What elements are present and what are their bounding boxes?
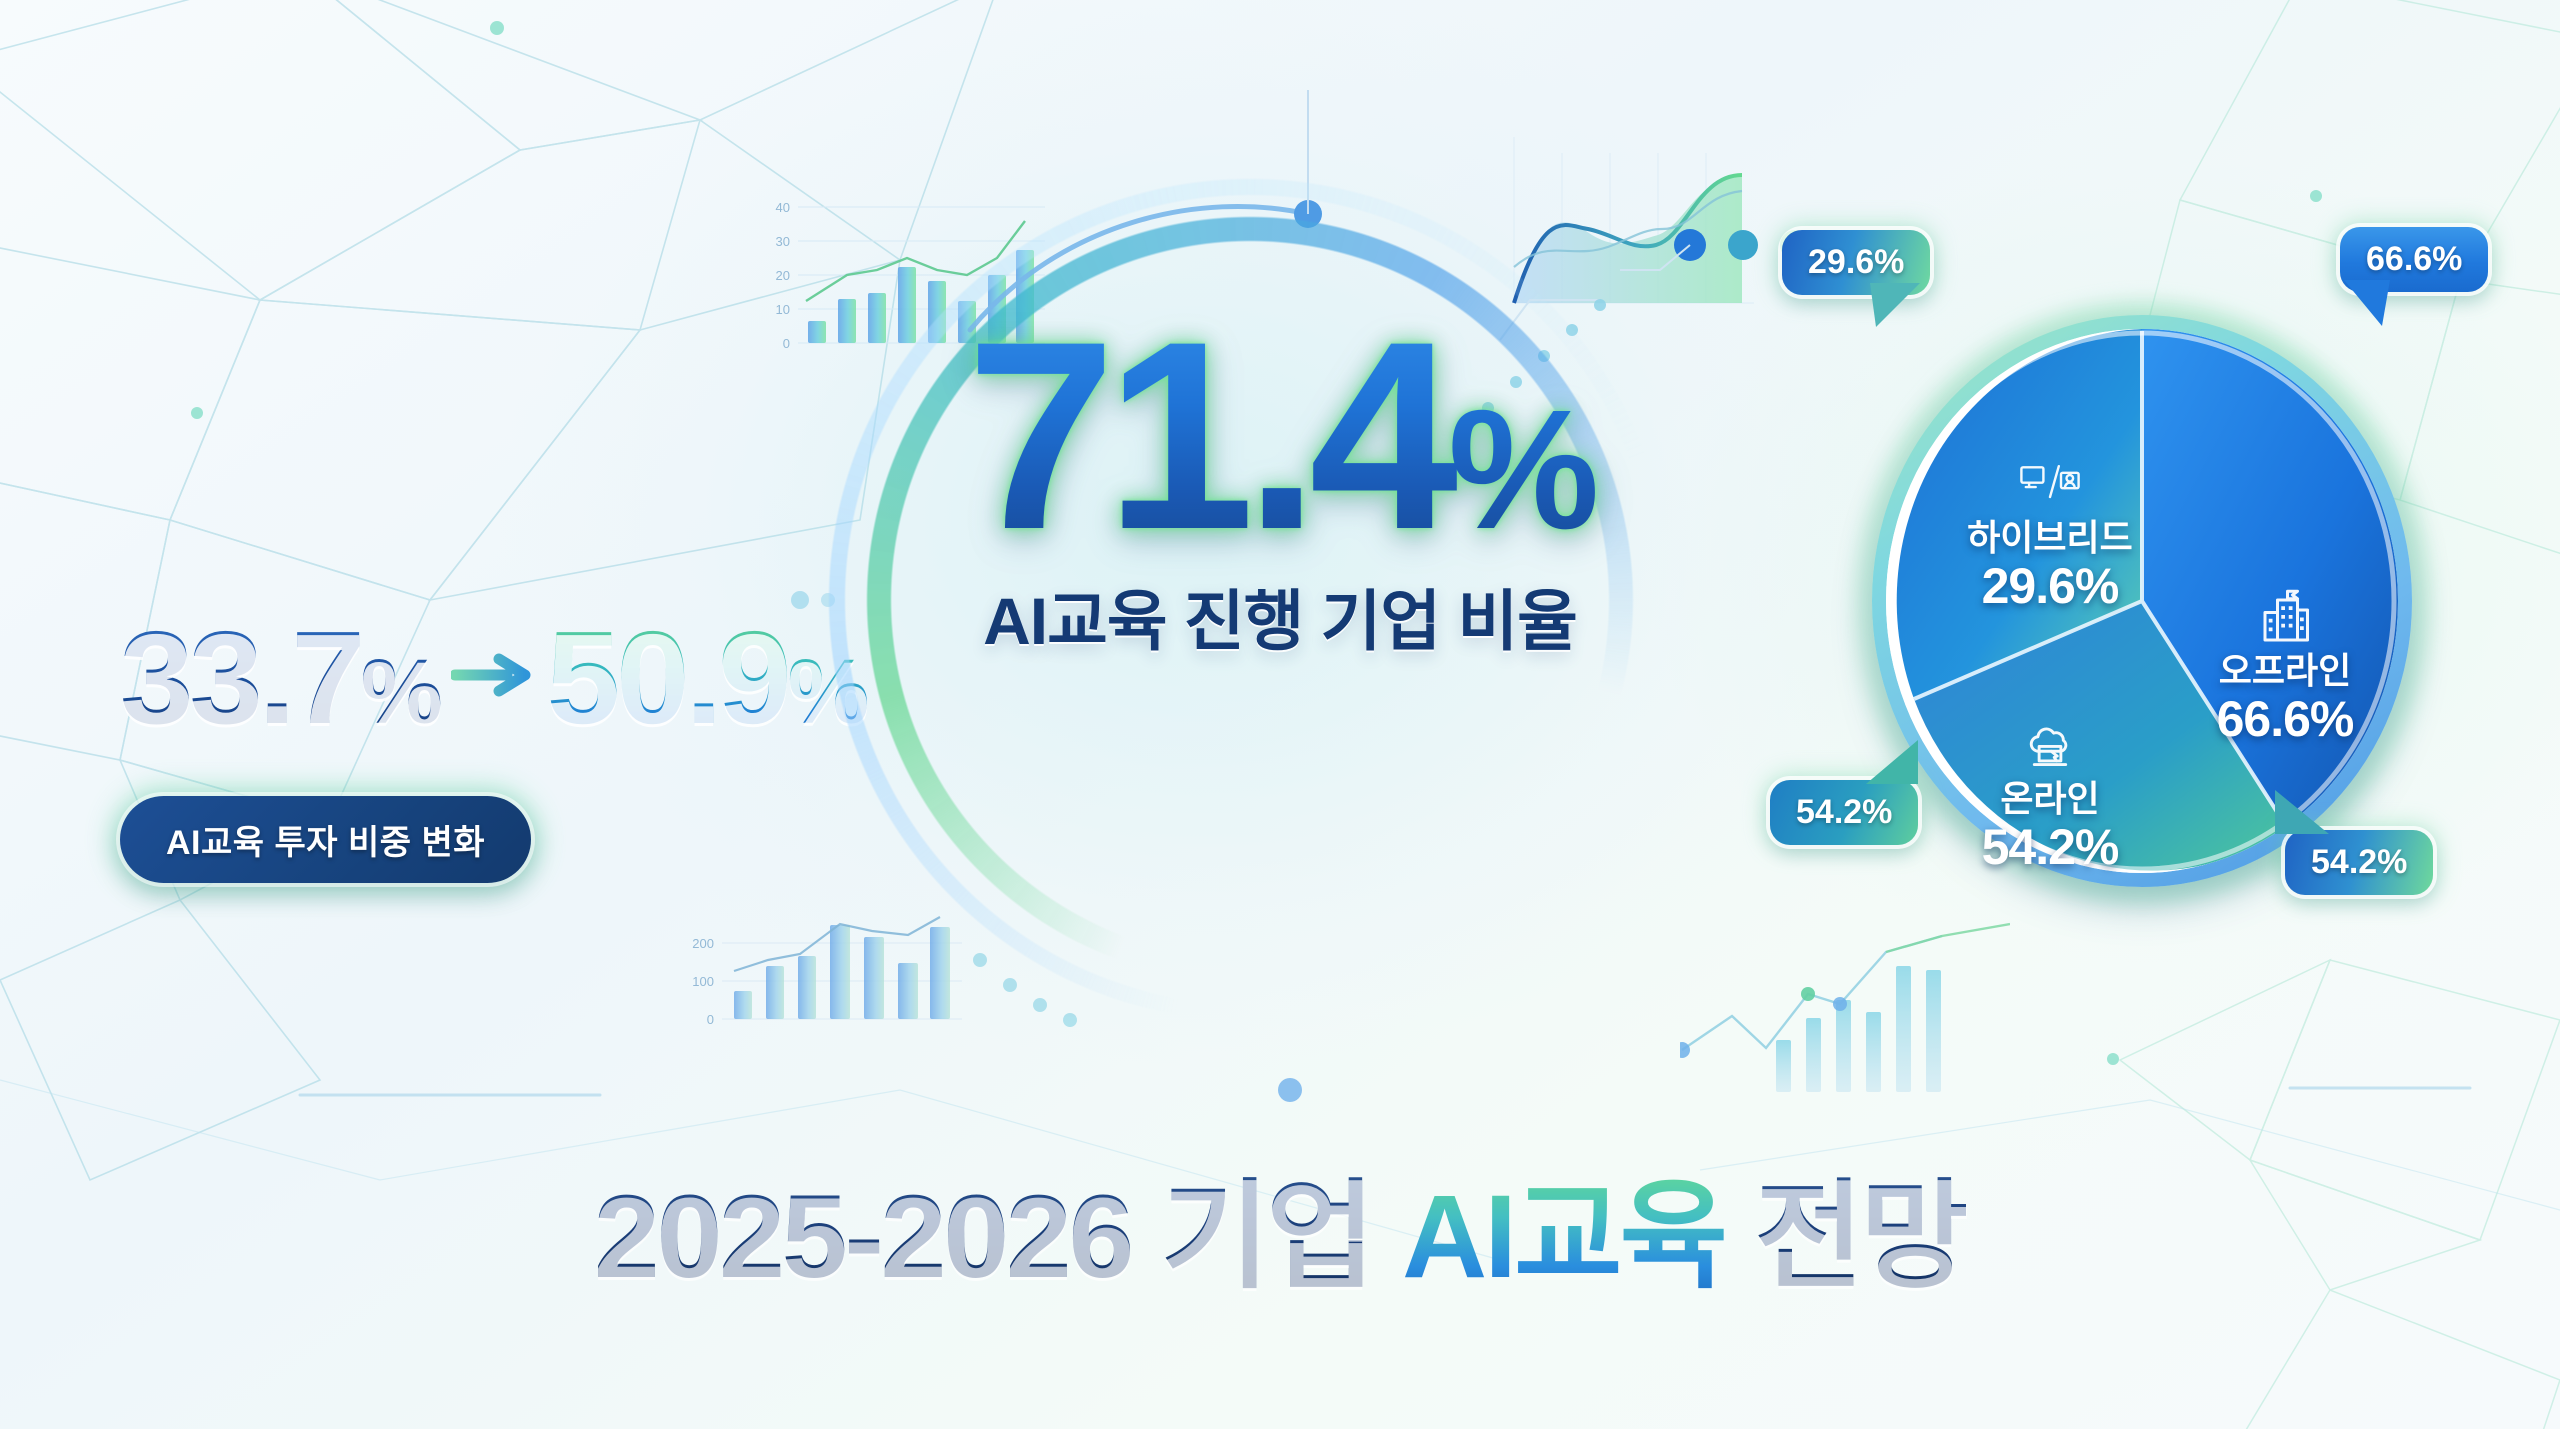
callout-offline-top-right: 66.6% — [2340, 227, 2488, 292]
cloud-laptop-icon — [2021, 715, 2079, 773]
bottom-title: 2025-2026 기업 AI교육 전망 — [0, 1140, 2560, 1311]
investment-from-value: 33.7% — [120, 612, 441, 744]
pie-label-hybrid-value: 29.6% — [1925, 558, 2175, 614]
pie-label-offline-value: 66.6% — [2170, 691, 2400, 747]
callout-offline-top-right-value: 66.6% — [2366, 240, 2462, 279]
svg-text:40: 40 — [776, 200, 790, 215]
hero-percentage: 71.4% — [840, 310, 1720, 562]
pie-label-offline-name: 오프라인 — [2170, 651, 2400, 691]
investment-change-badge: AI교육 투자 비중 변화 — [120, 796, 531, 883]
svg-text:0: 0 — [783, 336, 790, 351]
callout-tail-down-left — [2334, 280, 2390, 328]
investment-change-row: 33.7% 50.9% — [120, 612, 810, 744]
monitor-person-icon — [2017, 460, 2083, 512]
svg-text:10: 10 — [776, 302, 790, 317]
pie-label-offline: 오프라인 66.6% — [2170, 585, 2400, 747]
pie-label-online-value: 54.2% — [1940, 819, 2160, 875]
svg-text:30: 30 — [776, 234, 790, 249]
bottom-title-main: 2025-2026 기업 — [594, 1171, 1402, 1303]
infographic-canvas: 4030 20100 — [0, 0, 2560, 1429]
investment-change-block: 33.7% 50.9% AI교육 투자 비중 변화 — [120, 612, 810, 883]
callout-tail-down-right — [1870, 283, 1926, 329]
callout-online-bottom-right-value: 54.2% — [2311, 843, 2407, 882]
bottom-title-tail: 전망 — [1725, 1171, 1966, 1303]
callout-online-bottom-right: 54.2% — [2285, 830, 2433, 895]
svg-text:200: 200 — [692, 936, 714, 951]
background-bar-chart-bottom-right — [1680, 900, 2010, 1100]
callout-online-bottom-left-value: 54.2% — [1796, 793, 1892, 832]
bottom-title-accent: AI교육 — [1402, 1171, 1725, 1303]
svg-text:0: 0 — [707, 1012, 714, 1027]
pie-chart-block: 오프라인 66.6% 온라인 54.2% — [1800, 285, 2500, 925]
pie-label-hybrid: 하이브리드 29.6% — [1925, 460, 2175, 614]
callout-tail-up-right — [1862, 740, 1920, 786]
callout-hybrid-top-left: 29.6% — [1782, 230, 1930, 295]
pie-label-hybrid-name: 하이브리드 — [1925, 518, 2175, 558]
pie-label-online: 온라인 54.2% — [1940, 715, 2160, 875]
callout-hybrid-top-left-value: 29.6% — [1808, 243, 1904, 282]
hero-metric-block: 71.4% AI교육 진행 기업 비율 — [840, 310, 1720, 664]
pie-label-online-name: 온라인 — [1940, 779, 2160, 819]
callout-tail-up-left — [2271, 790, 2331, 836]
hero-caption: AI교육 진행 기업 비율 — [840, 568, 1720, 664]
arrow-right-icon — [451, 649, 537, 701]
svg-text:100: 100 — [692, 974, 714, 989]
callout-online-bottom-left: 54.2% — [1770, 780, 1918, 845]
office-building-icon — [2255, 585, 2315, 645]
svg-text:20: 20 — [776, 268, 790, 283]
